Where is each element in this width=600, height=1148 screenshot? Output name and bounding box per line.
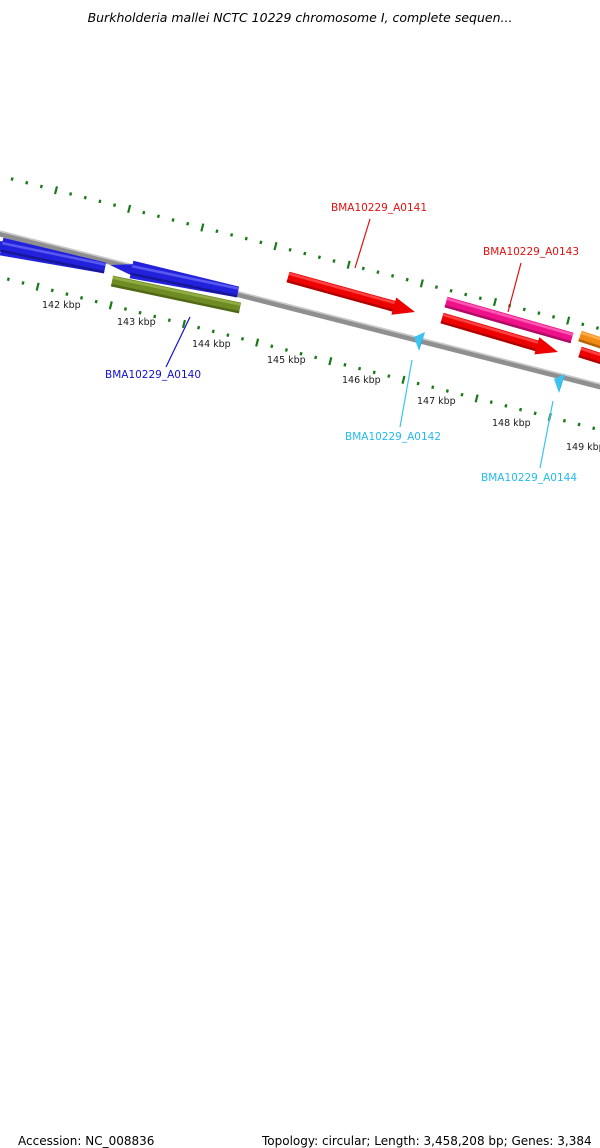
scale-tick-major bbox=[567, 317, 569, 325]
scale-tick-minor bbox=[436, 286, 437, 289]
scale-tick-minor bbox=[582, 323, 583, 326]
scale-tick-minor bbox=[99, 200, 100, 203]
scale-tick-minor bbox=[553, 315, 554, 318]
scale-tick-minor bbox=[465, 293, 466, 296]
scale-tick-minor bbox=[451, 289, 452, 292]
scale-tick-minor bbox=[462, 393, 463, 396]
scale-tick-minor bbox=[491, 401, 492, 404]
scale-tick-minor bbox=[217, 230, 218, 233]
scale-tick-minor bbox=[271, 345, 272, 348]
scale-tick-minor bbox=[290, 248, 291, 251]
scale-tick-minor bbox=[359, 367, 360, 370]
site-markers[interactable]: BMA10229_A0142BMA10229_A0144 bbox=[345, 332, 577, 484]
scale-tick-major bbox=[329, 357, 331, 365]
scale-tick-major bbox=[348, 261, 350, 269]
scale-tick-minor bbox=[597, 327, 598, 330]
scale-tick-minor bbox=[26, 181, 27, 184]
scale-tick-major bbox=[494, 298, 496, 306]
scale-tick-minor bbox=[143, 211, 144, 214]
marker-label[interactable]: BMA10229_A0142 bbox=[345, 431, 441, 443]
scale-tick-minor bbox=[506, 404, 507, 407]
scale-tick-minor bbox=[242, 337, 243, 340]
label-BMA10229_A0143[interactable]: BMA10229_A0143 bbox=[483, 246, 579, 258]
scale-tick-minor bbox=[407, 278, 408, 281]
scale-tick-minor bbox=[173, 218, 174, 221]
label-BMA10229_A0140[interactable]: BMA10229_A0140 bbox=[105, 369, 201, 381]
accession-text: Accession: NC_008836 bbox=[18, 1134, 154, 1148]
scale-tick-major bbox=[476, 395, 478, 403]
scale-tick-minor bbox=[70, 192, 71, 195]
scale-tick-major bbox=[256, 339, 258, 347]
scale-tick-minor bbox=[23, 281, 24, 284]
scale-tick-minor bbox=[8, 278, 9, 281]
scale-tick-minor bbox=[213, 330, 214, 333]
scale-tick-minor bbox=[524, 308, 525, 311]
scale-label: 146 kbp bbox=[342, 375, 381, 386]
scale-tick-minor bbox=[81, 296, 82, 299]
scale-tick-major bbox=[37, 283, 39, 291]
scale-tick-minor bbox=[315, 356, 316, 359]
scale-tick-minor bbox=[319, 256, 320, 259]
scale-tick-minor bbox=[432, 386, 433, 389]
scale-tick-minor bbox=[520, 408, 521, 411]
scale-tick-minor bbox=[579, 423, 580, 426]
scale-tick-minor bbox=[418, 382, 419, 385]
scale-tick-minor bbox=[374, 371, 375, 374]
scale-label: 145 kbp bbox=[267, 355, 306, 366]
scale-label: 148 kbp bbox=[492, 418, 531, 429]
scale-tick-major bbox=[128, 205, 130, 213]
scale-tick-minor bbox=[158, 215, 159, 218]
scale-tick-minor bbox=[227, 334, 228, 337]
scale-tick-major bbox=[421, 279, 423, 287]
scale-tick-minor bbox=[246, 237, 247, 240]
gene-red-right[interactable] bbox=[578, 347, 600, 369]
scale-tick-minor bbox=[187, 222, 188, 225]
scale-tick-minor bbox=[593, 427, 594, 430]
scale-tick-minor bbox=[114, 204, 115, 207]
feature-shadow bbox=[287, 280, 394, 312]
gene-leader-line bbox=[166, 317, 190, 367]
scale-tick-minor bbox=[96, 300, 97, 303]
scale-tick-minor bbox=[345, 363, 346, 366]
scale-tick-minor bbox=[334, 259, 335, 262]
scale-tick-major bbox=[275, 242, 277, 250]
scale-tick-minor bbox=[304, 252, 305, 255]
scale-tick-minor bbox=[140, 311, 141, 314]
scale-tick-minor bbox=[125, 307, 126, 310]
scale-tick-minor bbox=[564, 419, 565, 422]
genome-viewer: Burkholderia mallei NCTC 10229 chromosom… bbox=[0, 0, 600, 600]
marker-leader-line bbox=[540, 401, 553, 468]
scale-tick-minor bbox=[392, 274, 393, 277]
scale-tick-minor bbox=[535, 412, 536, 415]
scale-tick-minor bbox=[67, 293, 68, 296]
scale-tick-minor bbox=[480, 297, 481, 300]
marker-label[interactable]: BMA10229_A0144 bbox=[481, 472, 577, 484]
status-bar: Accession: NC_008836 Topology: circular;… bbox=[0, 560, 600, 600]
scale-tick-minor bbox=[169, 319, 170, 322]
scale-label: 142 kbp bbox=[42, 300, 81, 311]
scale-tick-major bbox=[55, 186, 57, 194]
topology-text: Topology: circular; Length: 3,458,208 bp… bbox=[262, 1134, 592, 1148]
scale-tick-minor bbox=[388, 375, 389, 378]
label-BMA10229_A0141[interactable]: BMA10229_A0141 bbox=[331, 202, 427, 214]
scale-label: 147 kbp bbox=[417, 396, 456, 407]
scale-tick-minor bbox=[447, 389, 448, 392]
scale-tick-minor bbox=[231, 233, 232, 236]
scale-tick-minor bbox=[363, 267, 364, 270]
scale-tick-minor bbox=[41, 185, 42, 188]
scale-tick-major bbox=[201, 224, 203, 232]
scale-tick-minor bbox=[378, 271, 379, 274]
scale-tick-minor bbox=[198, 326, 199, 329]
scale-tick-major bbox=[402, 376, 404, 384]
scale-label: 143 kbp bbox=[117, 317, 156, 328]
scale-label: 144 kbp bbox=[192, 339, 231, 350]
scale-tick-minor bbox=[539, 312, 540, 315]
scale-tick-minor bbox=[260, 241, 261, 244]
gene-leader-line bbox=[508, 263, 521, 312]
genome-map-canvas[interactable]: BMA10229_A0142BMA10229_A0144 BMA10229_A0… bbox=[0, 0, 600, 600]
scale-tick-minor bbox=[12, 178, 13, 181]
scale-tick-minor bbox=[52, 289, 53, 292]
feature-highlight bbox=[289, 273, 395, 305]
scale-tick-major bbox=[183, 320, 185, 328]
scale-label: 149 kbp bbox=[566, 442, 600, 453]
scale-tick-minor bbox=[286, 348, 287, 351]
marker-leader-line bbox=[400, 360, 412, 427]
scale-tick-minor bbox=[85, 196, 86, 199]
scale-tick-major bbox=[110, 301, 112, 309]
gene-leader-line bbox=[355, 219, 370, 268]
